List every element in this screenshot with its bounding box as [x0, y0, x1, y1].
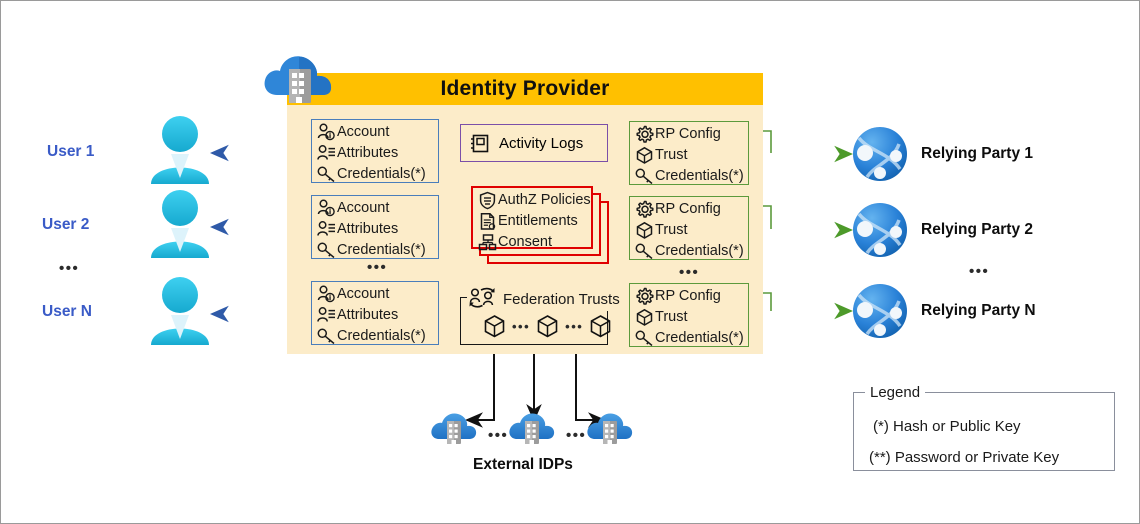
legend-line: (**) Password or Private Key	[869, 449, 1059, 466]
legend-line: (*) Hash or Public Key	[873, 418, 1021, 435]
relying-party-label: Relying Party N	[921, 302, 1036, 320]
relying-party-label: Relying Party 2	[921, 221, 1033, 239]
legend-title: Legend	[865, 384, 925, 401]
cloud-building-icon	[431, 413, 476, 444]
cloud-building-icon	[587, 413, 632, 444]
globe-network-icon	[853, 284, 907, 338]
external-idps-label: External IDPs	[473, 456, 573, 474]
cloud-building-icon	[509, 413, 554, 444]
relying-parties-ellipsis: •••	[969, 263, 989, 280]
external-idp-separator: •••	[488, 427, 508, 444]
diagram-canvas: Identity Provider Account Attributes	[0, 0, 1140, 524]
globe-network-icon	[853, 127, 907, 181]
globe-network-icon	[853, 203, 907, 257]
external-idp-icons	[431, 401, 641, 449]
relying-party-label: Relying Party 1	[921, 145, 1033, 163]
external-idp-separator: •••	[566, 427, 586, 444]
